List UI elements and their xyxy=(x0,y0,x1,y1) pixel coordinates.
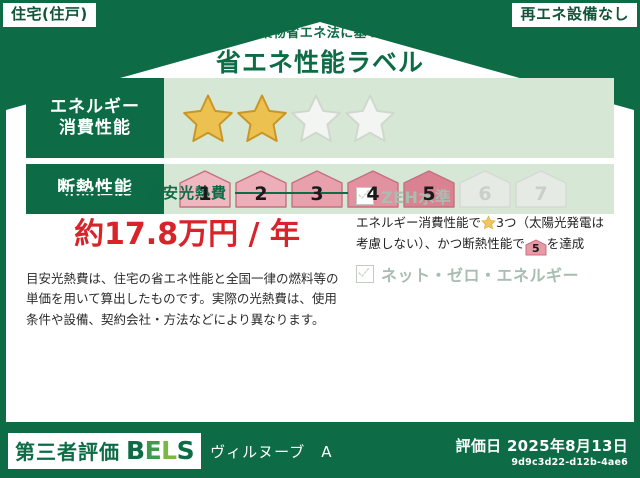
star-icon-filled xyxy=(182,92,234,144)
page-title: 省エネ性能ラベル xyxy=(0,43,640,79)
checkbox-unchecked-icon-2 xyxy=(356,265,374,283)
third-party-label: 第三者評価 xyxy=(15,436,120,465)
utility-cost-block: 目安光熱費 約17.8万円 / 年 目安光熱費は、住宅の省エネ性能と全国一律の燃… xyxy=(26,182,348,330)
zeh-standard-label: ZEH水準 xyxy=(381,184,451,208)
energy-label-root: 住宅(住戸) 再エネ設備なし 建築物省エネ法に基づく 省エネ性能ラベル エネルギ… xyxy=(0,0,640,478)
energy-label-line2: 消費性能 xyxy=(50,118,140,139)
heading-rule-right xyxy=(235,192,348,194)
bels-logo: 第三者評価 BELS xyxy=(8,433,201,469)
insulation-grade-number: 1 xyxy=(198,185,211,209)
utility-cost-heading: 目安光熱費 xyxy=(26,182,348,203)
energy-label-line1: エネルギー xyxy=(50,97,140,118)
insulation-grade-number: 5 xyxy=(422,185,435,209)
zeh-desc-part1: エネルギー消費性能で xyxy=(356,215,481,230)
inline-house-badge-number: 5 xyxy=(525,239,547,258)
footer-bar: 第三者評価 BELS ヴィルヌーブ A 評価日 2025年8月13日 9d9c3… xyxy=(0,424,640,478)
inline-house-badge-icon: 5 xyxy=(525,239,547,256)
evaluation-date: 評価日 2025年8月13日 xyxy=(456,435,628,456)
zeh-description: エネルギー消費性能で3つ（太陽光発電は考慮しない）、かつ断熱性能で5を達成 xyxy=(356,213,614,256)
utility-cost-note: 目安光熱費は、住宅の省エネ性能と全国一律の燃料等の単価を用いて算出したものです。… xyxy=(26,269,348,330)
net-zero-energy-line: ネット・ゼロ・エネルギー xyxy=(356,262,614,286)
energy-performance-row: エネルギー 消費性能 xyxy=(26,78,614,158)
insulation-grade-number: 2 xyxy=(254,185,267,209)
label-header: 建築物省エネ法に基づく 省エネ性能ラベル xyxy=(0,22,640,79)
star-rating xyxy=(164,78,614,158)
star-icon-empty xyxy=(344,92,396,144)
star-icon-empty xyxy=(290,92,342,144)
bels-wordmark: BELS xyxy=(126,438,194,463)
star-icon-filled xyxy=(236,92,288,144)
evaluation-info: 評価日 2025年8月13日 9d9c3d22-d12b-4ae6 xyxy=(456,435,628,468)
net-zero-energy-label: ネット・ゼロ・エネルギー xyxy=(381,262,579,286)
insulation-grade-number: 7 xyxy=(534,185,547,209)
heading-rule-left xyxy=(26,192,139,194)
property-name: ヴィルヌーブ A xyxy=(210,441,332,462)
zeh-desc-part2: を達成 xyxy=(547,236,585,251)
insulation-grade-number: 4 xyxy=(366,185,379,209)
utility-cost-heading-text: 目安光熱費 xyxy=(147,182,227,203)
energy-performance-label: エネルギー 消費性能 xyxy=(26,78,164,158)
inline-star-icon xyxy=(481,215,496,230)
insulation-grade-number: 6 xyxy=(478,185,491,209)
utility-cost-value: 約17.8万円 / 年 xyxy=(26,209,348,253)
label-subtitle: 建築物省エネ法に基づく xyxy=(0,22,640,41)
evaluation-id: 9d9c3d22-d12b-4ae6 xyxy=(456,457,628,468)
insulation-grade-number: 3 xyxy=(310,185,323,209)
